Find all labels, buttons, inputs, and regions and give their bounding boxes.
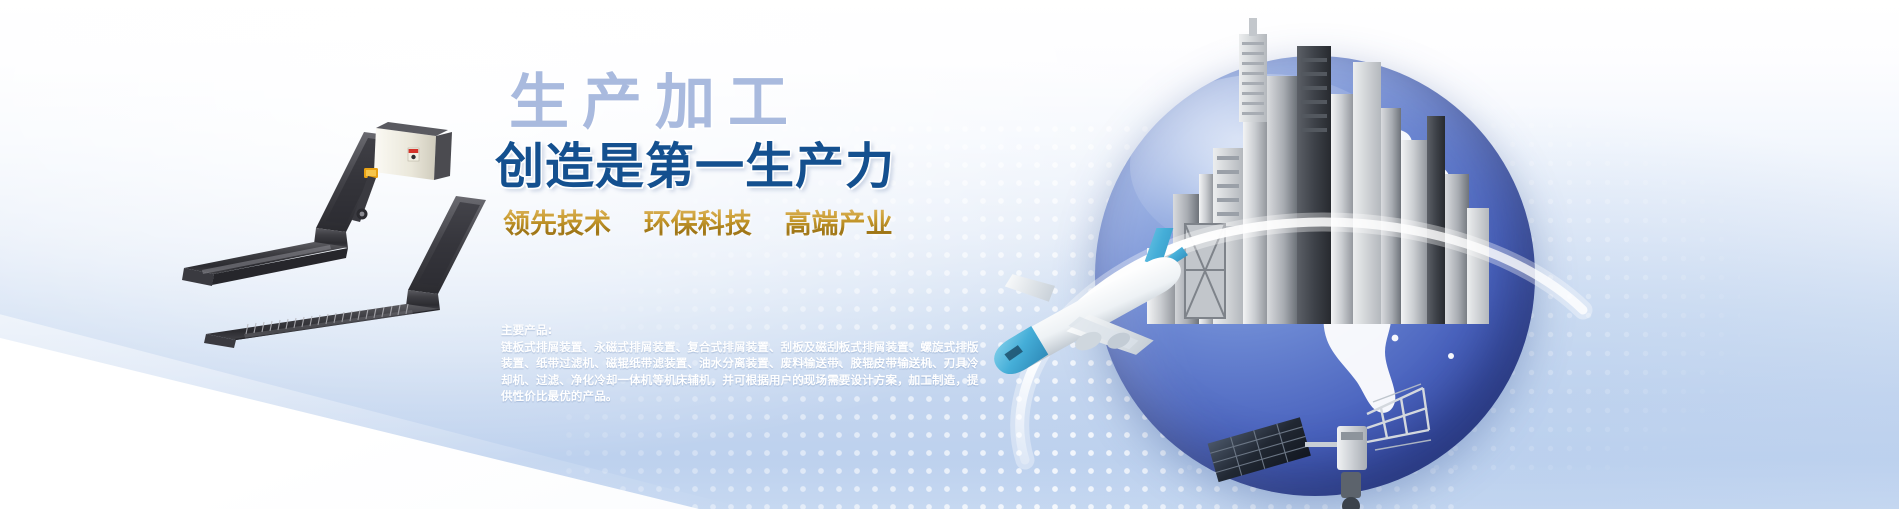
tagline-2: 环保科技: [644, 209, 752, 239]
tagline-row: 领先技术 环保科技 高端产业: [495, 202, 1015, 241]
globe-graphic-group: [1095, 56, 1535, 496]
globe-sphere: [1095, 56, 1535, 496]
product-list-line: 供性价比最优的产品。: [501, 388, 1181, 405]
chip-conveyor-machines: [150, 118, 530, 348]
headline-block: 生产加工 创造是第一生产力 领先技术 环保科技 高端产业: [495, 72, 1015, 241]
product-list-block: 主要产品: 链板式排屑装置、永磁式排屑装置、复合式排屑装置、刮板及磁刮板式排屑装…: [501, 322, 1181, 405]
globe-continents: [1095, 56, 1535, 496]
promo-banner: 生产加工 创造是第一生产力 领先技术 环保科技 高端产业 主要产品: 链板式排屑…: [0, 0, 1899, 509]
page-subtitle: 创造是第一生产力: [495, 141, 1015, 192]
page-title: 生产加工: [495, 72, 1015, 135]
product-list-line: 链板式排屑装置、永磁式排屑装置、复合式排屑装置、刮板及磁刮板式排屑装置、螺旋式排…: [501, 339, 1181, 356]
tagline-3: 高端产业: [785, 209, 893, 239]
product-list-line: 装置、纸带过滤机、磁辊纸带滤装置、油水分离装置、废料输送带、胶辊皮带输送机、刀具…: [501, 355, 1181, 372]
product-list-line: 却机、过滤、净化冷却一体机等机床辅机，并可根据用户的现场需要设计方案，加工制造，…: [501, 372, 1181, 389]
product-list-label: 主要产品:: [501, 322, 1181, 339]
tagline-1: 领先技术: [503, 209, 611, 239]
